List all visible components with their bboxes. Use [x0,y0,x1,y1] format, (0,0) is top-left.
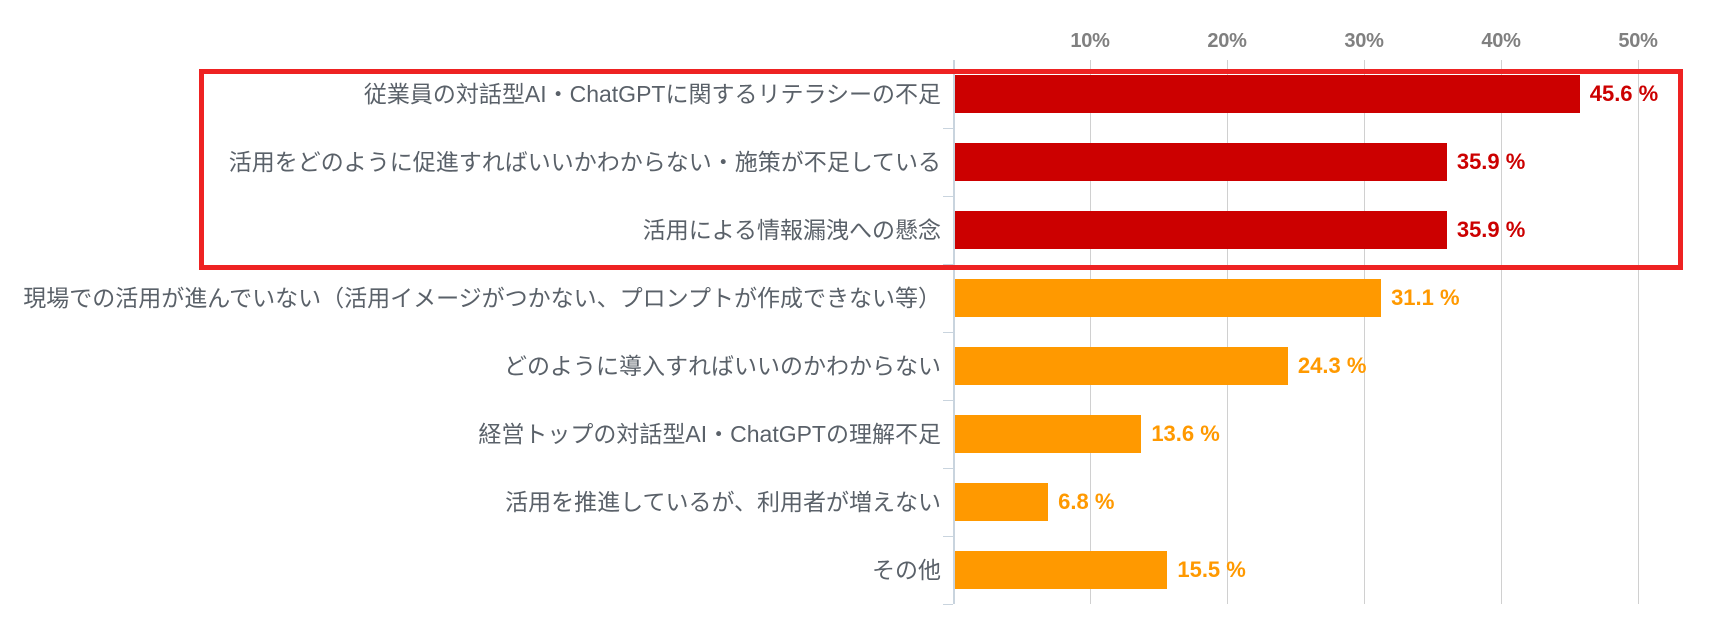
y-axis-tick [943,400,953,401]
bar-value-label: 31.1 % [1391,264,1460,332]
bar [955,415,1141,453]
bar-row: 経営トップの対話型AI・ChatGPTの理解不足13.6 % [0,400,1717,468]
bar-value-label: 15.5 % [1177,536,1246,604]
category-label: 活用を推進しているが、利用者が増えない [505,468,941,536]
x-tick-label-40: 40% [1481,30,1520,53]
category-label: 現場での活用が進んでいない（活用イメージがつかない、プロンプトが作成できない等） [23,264,941,332]
horizontal-bar-chart: 10%20%30%40%50% 従業員の対話型AI・ChatGPTに関するリテラ… [0,0,1717,639]
bar [955,143,1447,181]
x-axis-labels: 10%20%30%40%50% [0,0,1717,60]
category-label: どのように導入すればいいのかわからない [504,332,941,400]
bar-value-label: 13.6 % [1151,400,1220,468]
bar-row: 活用をどのように促進すればいいかわからない・施策が不足している35.9 % [0,128,1717,196]
category-label: その他 [872,536,941,604]
bar-value-label: 24.3 % [1298,332,1367,400]
bar-row: 活用による情報漏洩への懸念35.9 % [0,196,1717,264]
y-axis-tick [943,604,953,605]
y-axis-tick [943,196,953,197]
bar-value-label: 45.6 % [1590,60,1659,128]
bar [955,347,1288,385]
x-tick-label-20: 20% [1207,30,1246,53]
bar [955,279,1381,317]
category-label: 経営トップの対話型AI・ChatGPTの理解不足 [478,400,941,468]
bar-value-label: 6.8 % [1058,468,1114,536]
x-tick-label-10: 10% [1070,30,1109,53]
category-label: 従業員の対話型AI・ChatGPTに関するリテラシーの不足 [364,60,941,128]
bar [955,483,1048,521]
bar-row: 活用を推進しているが、利用者が増えない6.8 % [0,468,1717,536]
y-axis-tick [943,332,953,333]
category-label: 活用による情報漏洩への懸念 [643,196,941,264]
bar-value-label: 35.9 % [1457,196,1526,264]
bar [955,551,1167,589]
x-tick-label-50: 50% [1618,30,1657,53]
y-axis-tick [943,536,953,537]
bar-value-label: 35.9 % [1457,128,1526,196]
bar [955,75,1580,113]
category-label: 活用をどのように促進すればいいかわからない・施策が不足している [229,128,941,196]
x-tick-label-30: 30% [1344,30,1383,53]
bar [955,211,1447,249]
bar-row: どのように導入すればいいのかわからない24.3 % [0,332,1717,400]
bar-row: その他15.5 % [0,536,1717,604]
y-axis-tick [943,128,953,129]
y-axis-tick [943,468,953,469]
bar-row: 現場での活用が進んでいない（活用イメージがつかない、プロンプトが作成できない等）… [0,264,1717,332]
y-axis-tick [943,264,953,265]
bar-row: 従業員の対話型AI・ChatGPTに関するリテラシーの不足45.6 % [0,60,1717,128]
